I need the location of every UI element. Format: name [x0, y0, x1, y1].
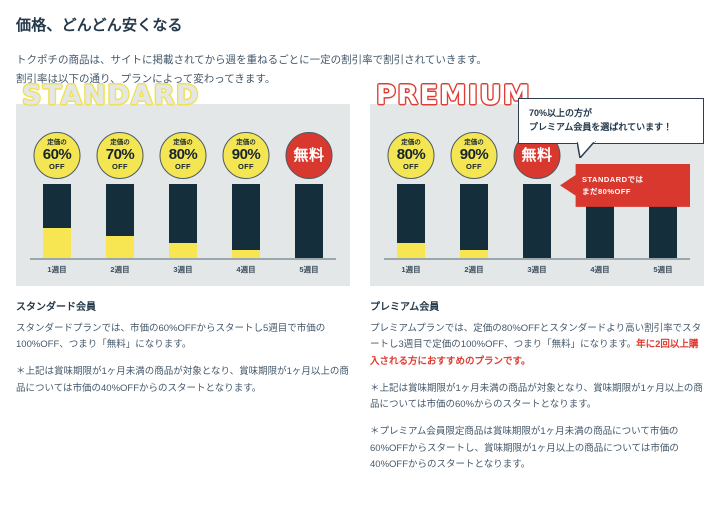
x-label: 5週目	[636, 264, 690, 275]
x-label: 3週目	[156, 264, 210, 275]
page-root: 価格、どんどん安くなる トクポチの商品は、サイトに掲載されてから週を重ねるごとに…	[0, 14, 720, 524]
premium-description: プレミアム会員 プレミアムプランでは、定価の80%OFFとスタンダードより高い割…	[370, 298, 704, 474]
premium-desc-paragraph-2: ＊上記は賞味期限が1ヶ月未満の商品が対象となり、賞味期限が1ヶ月以上の商品につい…	[370, 381, 704, 414]
standard-badge-week5-free: 無料	[286, 132, 333, 179]
badge-percent: 80%	[397, 147, 426, 162]
plan-standard: STANDARD 定価の 60% OFF	[16, 104, 350, 474]
x-label: 3週目	[510, 264, 564, 275]
standard-column-week3: 定価の 80% OFF	[156, 132, 210, 258]
standard-desc-title: スタンダード会員	[16, 298, 350, 313]
standard-bar-week1	[43, 184, 71, 258]
standard-column-week5: 無料	[282, 132, 336, 258]
badge-off-label: OFF	[238, 163, 254, 171]
badge-free-label: 無料	[521, 148, 552, 163]
badge-off-label: OFF	[403, 163, 419, 171]
standard-bar-week2	[106, 184, 134, 258]
premium-chart-inner: STANDARDでは まだ80%OFF 定価の 80% OFF	[384, 132, 690, 282]
premium-standard-comparison-arrow: STANDARDでは まだ80%OFF	[560, 164, 690, 207]
bar-yellow-segment	[232, 250, 260, 257]
standard-description: スタンダード会員 スタンダードプランでは、市価の60%OFFからスタートし5週目…	[16, 298, 350, 398]
x-label: 1週目	[384, 264, 438, 275]
standard-column-week2: 定価の 70% OFF	[93, 132, 147, 258]
premium-desc-paragraph-3: ＊プレミアム会員限定商品は賞味期限が1ヶ月未満の商品について市価の60%OFFか…	[370, 424, 704, 474]
badge-percent: 70%	[106, 147, 135, 162]
x-label: 1週目	[30, 264, 84, 275]
x-label: 2週目	[447, 264, 501, 275]
badge-percent: 60%	[43, 147, 72, 162]
standard-chart-panel: STANDARD 定価の 60% OFF	[16, 104, 350, 286]
badge-top-label: 定価の	[401, 140, 421, 147]
premium-callout-bubble: 70%以上の方が プレミアム会員を選ばれています！	[518, 98, 704, 144]
bubble-line-2: プレミアム会員を選ばれています！	[529, 121, 693, 135]
bubble-line-1: 70%以上の方が	[529, 107, 693, 121]
intro-line-1: トクポチの商品は、サイトに掲載されてから週を重ねるごとに一定の割引率で割引されて…	[16, 51, 704, 70]
standard-bar-columns: 定価の 60% OFF 定価の 70%	[30, 132, 336, 258]
page-title: 価格、どんどん安くなる	[16, 14, 704, 35]
standard-plan-title: STANDARD	[22, 82, 200, 109]
standard-badge-week2: 定価の 70% OFF	[97, 132, 144, 179]
premium-column-week2: 定価の 90% OFF	[447, 132, 501, 258]
bar-yellow-segment	[43, 228, 71, 258]
standard-desc-paragraph-1: スタンダードプランでは、市価の60%OFFからスタートし5週目で市価の100%O…	[16, 321, 350, 354]
bar-yellow-segment	[397, 243, 425, 258]
premium-column-week1: 定価の 80% OFF	[384, 132, 438, 258]
badge-free-label: 無料	[293, 148, 324, 163]
badge-off-label: OFF	[175, 163, 191, 171]
badge-top-label: 定価の	[236, 140, 256, 147]
premium-column-week3: 無料	[510, 132, 564, 258]
premium-bar-week3	[523, 184, 551, 258]
x-label: 4週目	[219, 264, 273, 275]
standard-bar-week5	[295, 184, 323, 258]
standard-chart-inner: 定価の 60% OFF 定価の 70%	[30, 132, 336, 282]
bar-yellow-segment	[169, 243, 197, 258]
premium-desc-title: プレミアム会員	[370, 298, 704, 313]
standard-column-week4: 定価の 90% OFF	[219, 132, 273, 258]
x-label: 2週目	[93, 264, 147, 275]
arrow-text: STANDARDでは まだ80%OFF	[582, 174, 644, 197]
arrow-line-1: STANDARDでは	[582, 174, 644, 185]
bar-yellow-segment	[106, 236, 134, 258]
bubble-tail-icon	[577, 141, 597, 158]
standard-badge-week1: 定価の 60% OFF	[34, 132, 81, 179]
premium-bar-week2	[460, 184, 488, 258]
badge-percent: 90%	[232, 147, 261, 162]
badge-off-label: OFF	[112, 163, 128, 171]
premium-x-labels: 1週目 2週目 3週目 4週目 5週目	[384, 264, 690, 275]
plans-row: STANDARD 定価の 60% OFF	[16, 104, 704, 474]
bar-yellow-segment	[460, 250, 488, 257]
badge-top-label: 定価の	[47, 140, 67, 147]
standard-x-labels: 1週目 2週目 3週目 4週目 5週目	[30, 264, 336, 275]
badge-top-label: 定価の	[173, 140, 193, 147]
standard-axis-line	[30, 258, 336, 260]
standard-column-week1: 定価の 60% OFF	[30, 132, 84, 258]
standard-bar-week3	[169, 184, 197, 258]
premium-plan-title: PREMIUM	[376, 82, 531, 109]
badge-percent: 80%	[169, 147, 198, 162]
badge-top-label: 定価の	[464, 140, 484, 147]
plan-premium: PREMIUM STANDARDでは まだ80%OFF 定価の	[370, 104, 704, 474]
standard-badge-week3: 定価の 80% OFF	[160, 132, 207, 179]
premium-axis-line	[384, 258, 690, 260]
badge-off-label: OFF	[49, 163, 65, 171]
premium-bar-week1	[397, 184, 425, 258]
premium-desc-paragraph-1: プレミアムプランでは、定価の80%OFFとスタンダードより高い割引率でスタートし…	[370, 321, 704, 371]
badge-top-label: 定価の	[110, 140, 130, 147]
standard-badge-week4: 定価の 90% OFF	[223, 132, 270, 179]
standard-desc-paragraph-2: ＊上記は賞味期限が1ヶ月未満の商品が対象となり、賞味期限が1ヶ月以上の商品につい…	[16, 364, 350, 397]
badge-percent: 90%	[460, 147, 489, 162]
x-label: 5週目	[282, 264, 336, 275]
x-label: 4週目	[573, 264, 627, 275]
premium-badge-week1: 定価の 80% OFF	[388, 132, 435, 179]
standard-bar-week4	[232, 184, 260, 258]
premium-badge-week2: 定価の 90% OFF	[451, 132, 498, 179]
arrow-line-2: まだ80%OFF	[582, 185, 644, 196]
badge-off-label: OFF	[466, 163, 482, 171]
